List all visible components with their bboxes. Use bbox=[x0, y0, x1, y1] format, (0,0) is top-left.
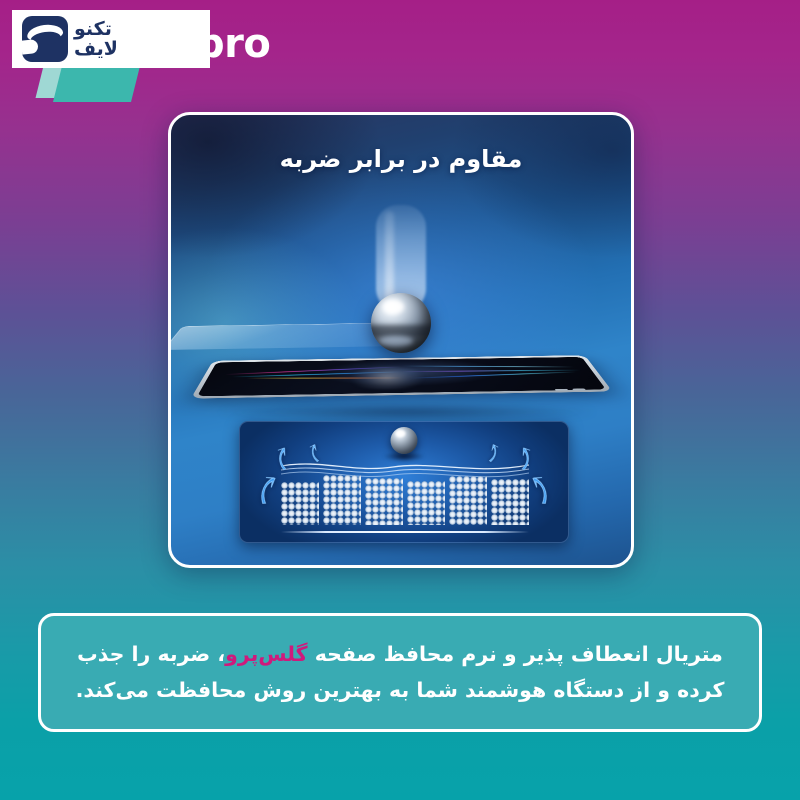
particle-column bbox=[491, 479, 529, 525]
brand-logo[interactable]: تکنو لایف bbox=[12, 10, 210, 68]
particle-column bbox=[449, 476, 487, 525]
caption-segment-1: متریال انعطاف پذیر و نرم محافظ صفحه bbox=[308, 642, 723, 666]
tablet-shadow bbox=[217, 403, 597, 421]
accent-shape-front bbox=[53, 62, 141, 102]
swoosh-tail-shape bbox=[22, 39, 39, 55]
particle-column bbox=[281, 482, 319, 525]
brand-header: pro تکنو لایف bbox=[0, 0, 800, 110]
particle-column bbox=[407, 481, 445, 525]
brand-wordmark-line-2: لایف bbox=[74, 40, 118, 59]
particle-column bbox=[323, 475, 361, 525]
caption-brand-highlight: گلس‌پرو bbox=[225, 642, 307, 666]
impact-absorption-diagram bbox=[239, 421, 569, 543]
product-image-card: مقاوم در برابر ضربه bbox=[168, 112, 634, 568]
card-headline: مقاوم در برابر ضربه bbox=[171, 145, 631, 173]
particle-column bbox=[365, 478, 403, 525]
particle-columns bbox=[281, 475, 529, 525]
ball-highlight-primary bbox=[383, 300, 404, 314]
ball-highlight-secondary bbox=[379, 336, 413, 346]
steel-ball-icon bbox=[371, 293, 431, 353]
diagram-baseline bbox=[281, 531, 529, 533]
caption-box: متریال انعطاف پذیر و نرم محافظ صفحه گلس‌… bbox=[38, 613, 762, 732]
caption-text: متریال انعطاف پذیر و نرم محافظ صفحه گلس‌… bbox=[67, 637, 733, 708]
techno-life-mark-icon bbox=[22, 16, 68, 62]
promo-banner: pro تکنو لایف مقاوم در برابر ضربه bbox=[0, 0, 800, 800]
steel-ball-small-icon bbox=[391, 427, 418, 454]
falling-ball-stage bbox=[171, 195, 631, 405]
brand-wordmark-line-1: تکنو bbox=[74, 20, 112, 39]
brand-wordmark: تکنو لایف bbox=[74, 20, 118, 59]
ball-band bbox=[371, 325, 431, 337]
